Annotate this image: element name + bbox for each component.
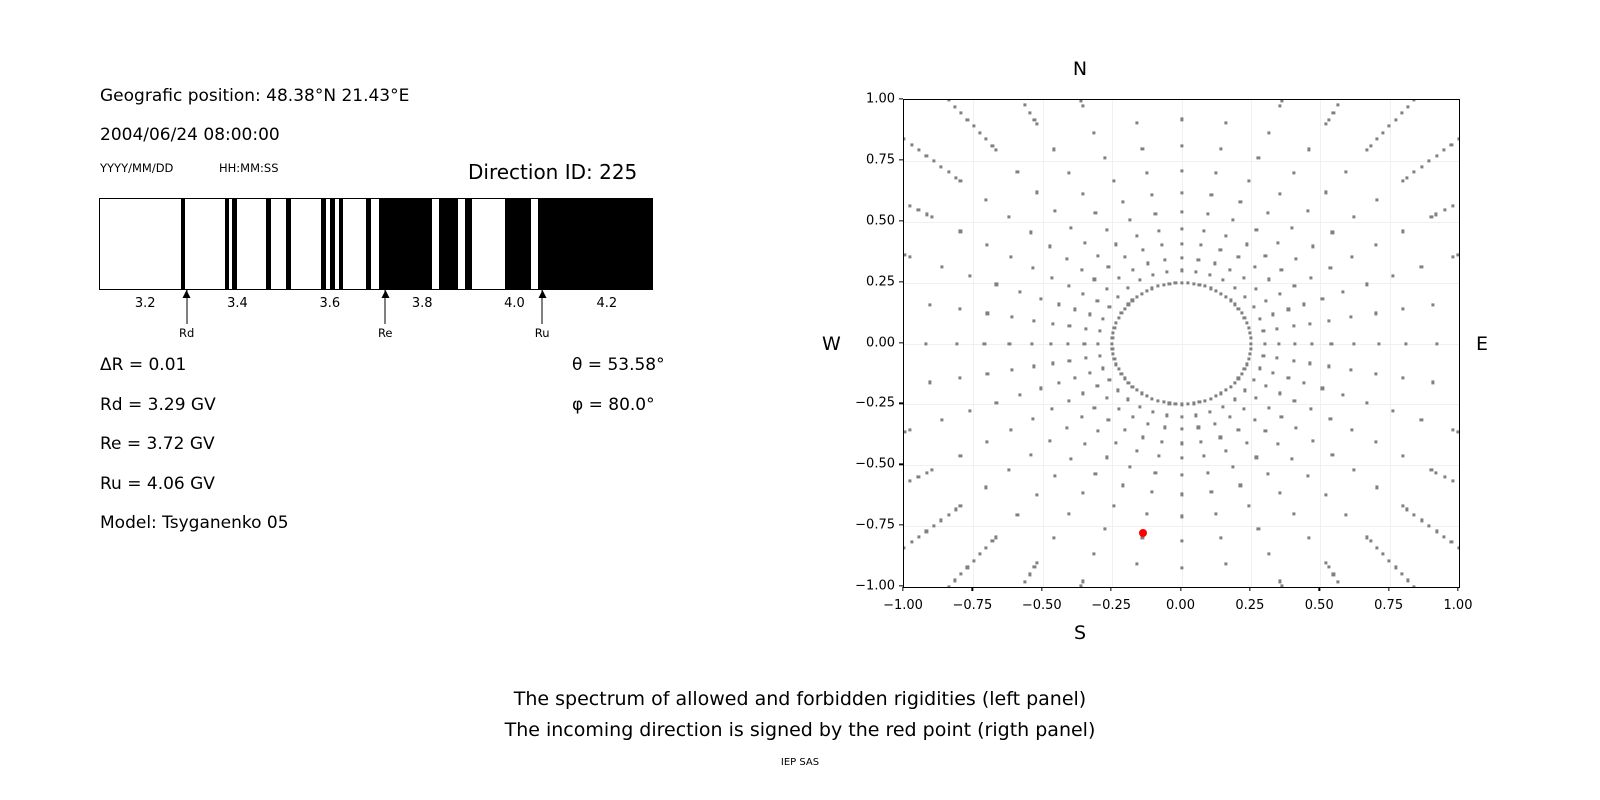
direction-dot (1428, 160, 1431, 163)
polar-ytick-mark (899, 159, 903, 160)
direction-dot (1147, 262, 1150, 265)
direction-dot (1352, 469, 1355, 472)
param-model: Model: Tsyganenko 05 (100, 515, 289, 532)
direction-dot (1094, 473, 1097, 476)
direction-dot (1457, 138, 1460, 141)
direction-dot (1451, 429, 1454, 432)
direction-dot (1233, 398, 1236, 401)
direction-dot (925, 342, 928, 345)
direction-dot (1431, 381, 1434, 384)
direction-dot (959, 308, 962, 311)
direction-dot (1249, 342, 1252, 345)
direction-dot (1327, 565, 1330, 568)
direction-dot (969, 409, 972, 412)
direction-dot (1107, 418, 1110, 421)
direction-dot (1051, 362, 1054, 365)
direction-dot (1053, 209, 1056, 212)
direction-dot (1406, 105, 1409, 108)
direction-dot (1180, 442, 1183, 445)
direction-dot (1084, 327, 1087, 330)
direction-dot (1197, 426, 1200, 429)
forbidden-band (465, 199, 472, 289)
direction-dot (1192, 402, 1195, 405)
direction-dot (1151, 411, 1154, 414)
direction-dot (940, 519, 943, 522)
gridline-horizontal (904, 161, 1459, 162)
direction-dot (1375, 546, 1378, 549)
direction-dot (1331, 453, 1334, 456)
direction-dot (1330, 342, 1333, 345)
direction-dot (1231, 465, 1234, 468)
direction-dot (1302, 303, 1305, 306)
direction-dot (1126, 398, 1129, 401)
direction-dot (1204, 285, 1207, 288)
direction-dot (1093, 552, 1096, 555)
direction-dot (1420, 419, 1423, 422)
direction-dot (1150, 193, 1153, 196)
direction-dot (1131, 268, 1134, 271)
direction-dot (1344, 514, 1347, 517)
direction-dot (1050, 408, 1053, 411)
direction-dot (1051, 322, 1054, 325)
direction-dot (1310, 408, 1313, 411)
direction-dot (972, 559, 975, 562)
direction-dot (1401, 505, 1404, 508)
direction-dot (1069, 226, 1072, 229)
direction-dot (1281, 584, 1284, 587)
direction-dot (1135, 449, 1138, 452)
direction-dot (1312, 245, 1315, 248)
polar-scatter-plot (903, 99, 1460, 588)
direction-dot (1096, 430, 1099, 433)
direction-dot (1010, 316, 1013, 319)
direction-dot (1271, 371, 1274, 374)
direction-dot (978, 131, 981, 134)
direction-dot (1324, 123, 1327, 126)
direction-dot (1111, 347, 1114, 350)
direction-dot (1365, 148, 1368, 151)
direction-dot (955, 508, 958, 511)
direction-dot (1150, 491, 1153, 494)
direction-dot (1094, 211, 1097, 214)
direction-dot (1160, 244, 1163, 247)
direction-dot (1394, 118, 1397, 121)
direction-dot (1255, 456, 1258, 459)
direction-dot (1344, 170, 1347, 173)
direction-dot (1115, 321, 1118, 324)
direction-dot (1117, 368, 1120, 371)
direction-dot (1294, 342, 1297, 345)
direction-dot (1069, 458, 1072, 461)
direction-dot (1048, 439, 1051, 442)
right-panel: N S W E −1.00−0.75−0.50−0.250.000.250.50… (800, 0, 1600, 800)
direction-dot (960, 572, 963, 575)
direction-dot (1228, 416, 1231, 419)
direction-id-text: Direction ID: 225 (468, 162, 637, 182)
direction-dot (1157, 229, 1160, 232)
direction-dot (1081, 580, 1084, 583)
spectrum-xtick-label: 3.6 (319, 296, 340, 311)
direction-dot (932, 524, 935, 527)
direction-dot (1276, 241, 1279, 244)
direction-dot (1391, 274, 1394, 277)
direction-dot (1096, 299, 1099, 302)
direction-dot (1242, 277, 1245, 280)
direction-dot (1219, 536, 1222, 539)
direction-dot (1156, 285, 1159, 288)
direction-dot (1435, 342, 1438, 345)
polar-xtick-mark (1180, 587, 1181, 591)
forbidden-band (181, 199, 186, 289)
direction-dot (1245, 321, 1248, 324)
polar-ytick-label: 1.00 (845, 92, 895, 107)
direction-dot (966, 118, 969, 121)
direction-dot (1401, 376, 1404, 379)
direction-dot (1413, 171, 1416, 174)
direction-dot (1381, 553, 1384, 556)
direction-dot (1033, 565, 1036, 568)
direction-dot (1194, 270, 1197, 273)
direction-dot (1400, 572, 1403, 575)
direction-dot (1209, 397, 1212, 400)
direction-dot (1174, 281, 1177, 284)
direction-dot (986, 312, 989, 315)
direction-dot (1262, 329, 1265, 332)
direction-dot (1023, 104, 1026, 107)
direction-dot (940, 419, 943, 422)
direction-dot (928, 303, 931, 306)
direction-dot (903, 430, 906, 433)
direction-dot (1220, 292, 1223, 295)
direction-dot (1032, 319, 1035, 322)
direction-dot (909, 429, 912, 432)
polar-xtick-label: −0.75 (952, 598, 992, 613)
direction-dot (1168, 282, 1171, 285)
direction-dot (1115, 363, 1118, 366)
direction-dot (1456, 254, 1459, 257)
direction-dot (1247, 504, 1250, 507)
polar-xtick-mark (1319, 587, 1320, 591)
direction-dot (966, 566, 969, 569)
direction-dot (1031, 417, 1034, 420)
direction-dot (1206, 471, 1209, 474)
polar-xtick-mark (972, 587, 973, 591)
direction-dot (1068, 513, 1071, 516)
direction-dot (1245, 243, 1248, 246)
direction-dot (1324, 493, 1327, 496)
direction-dot (1264, 254, 1267, 257)
direction-dot (1450, 541, 1453, 544)
direction-dot (925, 471, 928, 474)
direction-dot (1052, 536, 1055, 539)
forbidden-band (379, 199, 432, 289)
direction-dot (1352, 342, 1355, 345)
direction-dot (1180, 473, 1183, 476)
spectrum-xtick-label: 3.2 (135, 296, 156, 311)
direction-dot (1126, 286, 1129, 289)
direction-dot (1254, 397, 1257, 400)
direction-dot (1138, 405, 1141, 408)
direction-dot (1365, 536, 1368, 539)
direction-dot (1248, 352, 1251, 355)
direction-dot (1127, 303, 1130, 306)
direction-dot (1308, 148, 1311, 151)
direction-dot (1156, 399, 1159, 402)
direction-dot (1108, 378, 1111, 381)
direction-dot (1293, 399, 1296, 402)
direction-dot (1442, 535, 1445, 538)
direction-dot (1106, 397, 1109, 400)
direction-dot (1200, 440, 1203, 443)
direction-dot (1039, 297, 1042, 300)
direction-dot (1224, 295, 1227, 298)
direction-dot (1278, 392, 1281, 395)
direction-dot (1435, 213, 1438, 216)
direction-dot (1102, 367, 1105, 370)
direction-dot (1098, 329, 1101, 332)
direction-dot (1180, 427, 1183, 430)
direction-dot (1084, 357, 1087, 360)
direction-dot (985, 243, 988, 246)
direction-dot (1405, 508, 1408, 511)
direction-dot (1186, 281, 1189, 284)
direction-dot (1365, 283, 1368, 286)
direction-dot (947, 585, 950, 588)
direction-dot (1276, 327, 1279, 330)
direction-dot (1420, 265, 1423, 268)
direction-dot (1105, 456, 1108, 459)
forbidden-band (366, 199, 371, 289)
direction-dot (1081, 492, 1084, 495)
direction-dot (995, 283, 998, 286)
direction-dot (1245, 363, 1248, 366)
forbidden-band (538, 199, 653, 289)
compass-north-label: N (800, 58, 1360, 80)
direction-dot (1278, 492, 1281, 495)
direction-dot (1224, 563, 1227, 566)
forbidden-band (330, 199, 335, 289)
direction-dot (1293, 285, 1296, 288)
caption-line-1: The spectrum of allowed and forbidden ri… (0, 688, 1600, 710)
direction-dot (1081, 392, 1084, 395)
direction-dot (1413, 513, 1416, 516)
direction-dot (1050, 276, 1053, 279)
direction-dot (1151, 273, 1154, 276)
polar-xtick-label: −1.00 (883, 598, 923, 613)
direction-dot (1106, 287, 1109, 290)
direction-dot (1112, 352, 1115, 355)
direction-dot (1375, 243, 1378, 246)
direction-dot (1435, 530, 1438, 533)
direction-dot (1192, 282, 1195, 285)
direction-dot (1266, 473, 1269, 476)
direction-dot (1163, 426, 1166, 429)
direction-dot (1111, 342, 1114, 345)
direction-dot (959, 179, 962, 182)
direction-dot (969, 274, 972, 277)
time-format-hint: HH:MM:SS (219, 163, 279, 175)
direction-dot (1237, 428, 1240, 431)
direction-dot (978, 553, 981, 556)
direction-dot (1351, 428, 1354, 431)
direction-dot (1278, 192, 1281, 195)
direction-dot (1295, 426, 1298, 429)
direction-dot (1247, 326, 1250, 329)
param-theta: θ = 53.58° (572, 357, 665, 374)
direction-dot (1035, 493, 1038, 496)
direction-dot (1031, 266, 1034, 269)
direction-dot (1213, 262, 1216, 265)
direction-dot (1258, 317, 1261, 320)
direction-dot (1287, 376, 1290, 379)
direction-dot (917, 149, 920, 152)
direction-dot (1146, 172, 1149, 175)
param-ru: Ru = 4.06 GV (100, 476, 215, 493)
direction-dot (1349, 316, 1352, 319)
direction-dot (903, 546, 906, 549)
polar-ytick-label: 0.75 (845, 152, 895, 167)
direction-dot (1329, 266, 1332, 269)
param-re: Re = 3.72 GV (100, 436, 215, 453)
direction-dot (1208, 411, 1211, 414)
direction-dot (1292, 171, 1295, 174)
direction-dot (1147, 422, 1150, 425)
direction-dot (925, 530, 928, 533)
direction-dot (1342, 394, 1345, 397)
direction-dot (1312, 439, 1315, 442)
direction-dot (1135, 234, 1138, 237)
direction-dot (1329, 417, 1332, 420)
direction-dot (1222, 279, 1225, 282)
polar-xtick-label: 0.00 (1166, 598, 1195, 613)
direction-dot (1120, 372, 1123, 375)
forbidden-band (225, 199, 230, 289)
polar-ytick-label: 0.50 (845, 213, 895, 228)
direction-dot (1258, 367, 1261, 370)
direction-dot (1375, 138, 1378, 141)
direction-dot (1237, 255, 1240, 258)
direction-dot (1351, 255, 1354, 258)
direction-dot (1093, 131, 1096, 134)
direction-dot (1113, 326, 1116, 329)
direction-dot (1375, 486, 1378, 489)
direction-dot (1120, 311, 1123, 314)
direction-dot (1039, 387, 1042, 390)
spectrum-xtick-label: 4.2 (596, 296, 617, 311)
direction-dot (1210, 491, 1213, 494)
direction-dot (1451, 479, 1454, 482)
polar-xtick-mark (902, 587, 903, 591)
direction-dot (1428, 524, 1431, 527)
direction-dot (1116, 389, 1119, 392)
direction-dot (1145, 395, 1148, 398)
direction-dot (1224, 389, 1227, 392)
direction-dot (1127, 381, 1130, 384)
direction-dot (1057, 303, 1060, 306)
direction-dot (1204, 399, 1207, 402)
direction-dot (991, 144, 994, 147)
direction-dot (1131, 385, 1134, 388)
direction-dot (1451, 204, 1454, 207)
direction-dot (1267, 278, 1270, 281)
direction-dot (1097, 342, 1100, 345)
polar-ytick-label: −0.50 (845, 457, 895, 472)
polar-xtick-mark (1041, 587, 1042, 591)
direction-dot (1180, 281, 1183, 284)
direction-dot (1280, 415, 1283, 418)
direction-dot (1089, 371, 1092, 374)
direction-dot (1010, 368, 1013, 371)
direction-dot (1257, 157, 1260, 160)
direction-dot (1369, 144, 1372, 147)
polar-xtick-label: 0.25 (1235, 598, 1264, 613)
direction-dot (1036, 123, 1039, 126)
direction-dot (1342, 290, 1345, 293)
direction-dot (1233, 381, 1236, 384)
direction-dot (1405, 176, 1408, 179)
direction-dot (930, 469, 933, 472)
direction-dot (1244, 389, 1247, 392)
direction-dot (1430, 215, 1433, 218)
direction-dot (1242, 407, 1245, 410)
direction-dot (903, 138, 906, 141)
direction-dot (1388, 559, 1391, 562)
direction-dot (1131, 299, 1134, 302)
direction-dot (917, 475, 920, 478)
direction-dot (1180, 257, 1183, 260)
gridline-horizontal (904, 222, 1459, 223)
direction-dot (1117, 316, 1120, 319)
direction-dot (1229, 385, 1232, 388)
direction-dot (1214, 172, 1217, 175)
direction-dot (1249, 347, 1252, 350)
direction-dot (1163, 258, 1166, 261)
direction-dot (1332, 573, 1335, 576)
direction-dot (1406, 579, 1409, 582)
polar-ytick-label: −0.25 (845, 396, 895, 411)
direction-dot (1225, 234, 1228, 237)
direction-dot (910, 541, 913, 544)
direction-dot (1405, 342, 1408, 345)
marker-arrow-ru (542, 290, 543, 324)
direction-dot (1096, 254, 1099, 257)
direction-dot (1219, 148, 1222, 151)
direction-dot (1420, 519, 1423, 522)
polar-xtick-mark (1110, 587, 1111, 591)
direction-dot (1401, 308, 1404, 311)
direction-dot (1008, 342, 1011, 345)
direction-dot (908, 479, 911, 482)
forbidden-band (266, 199, 271, 289)
direction-dot (1080, 268, 1083, 271)
direction-dot (1009, 428, 1012, 431)
direction-dot (1053, 474, 1056, 477)
direction-dot (1215, 395, 1218, 398)
gridline-horizontal (904, 344, 1459, 345)
direction-dot (1068, 171, 1071, 174)
direction-dot (1287, 308, 1290, 311)
direction-dot (1442, 149, 1445, 152)
direction-dot (1180, 269, 1183, 272)
direction-dot (1067, 285, 1070, 288)
direction-dot (1224, 121, 1227, 124)
direction-dot (1209, 287, 1212, 290)
direction-dot (1141, 148, 1144, 151)
direction-dot (1098, 355, 1101, 358)
direction-dot (1295, 257, 1298, 260)
direction-dot (1240, 372, 1243, 375)
direction-dot (1016, 170, 1019, 173)
